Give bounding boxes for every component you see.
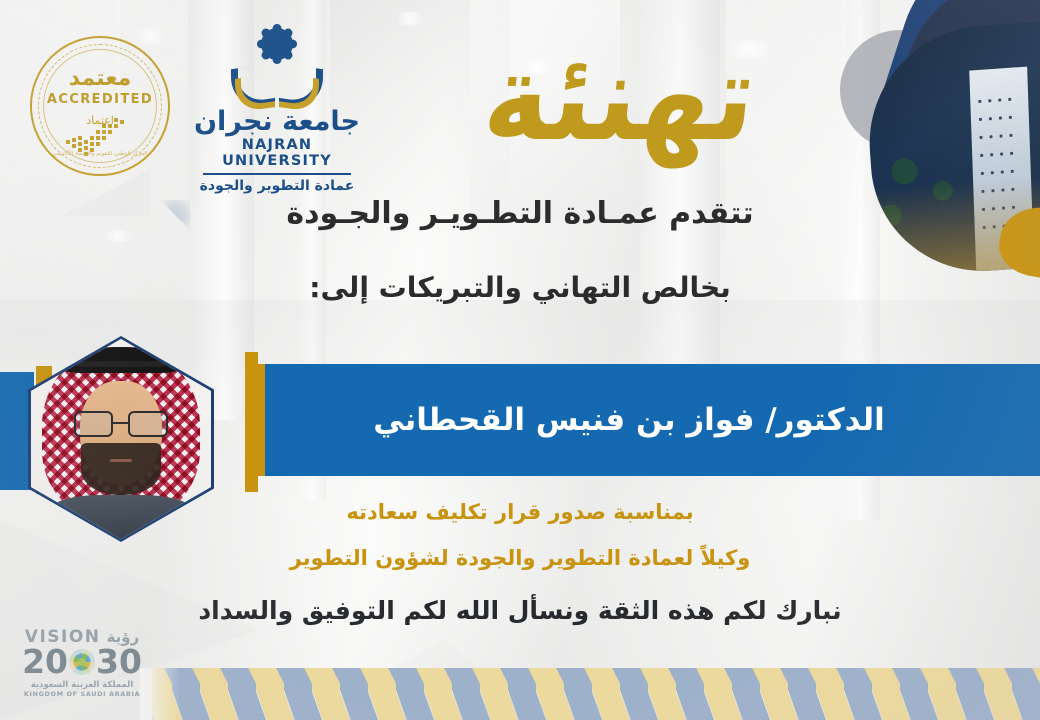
pattern-tile [984, 668, 1012, 720]
vision-year-right: 30 [96, 645, 142, 678]
pattern-tile [200, 668, 228, 720]
vision-2030-logo: VISION رؤية 20 30 المملكة العربية السعود… [20, 627, 144, 698]
open-book-icon [231, 66, 323, 110]
vision-2030-emblem-icon [69, 649, 95, 675]
kingdom-arabic-label: المملكة العربية السعودية [20, 680, 144, 690]
beard [81, 443, 160, 495]
pattern-tile [788, 668, 816, 720]
honoree-name: الدكتور/ فواز بن فنيس القحطاني [373, 402, 925, 438]
pattern-tile [676, 668, 704, 720]
pattern-tile [284, 668, 312, 720]
honoree-name-banner: الدكتور/ فواز بن فنيس القحطاني [258, 364, 1040, 476]
pattern-tile [396, 668, 424, 720]
pattern-tile [844, 668, 872, 720]
pattern-tile [256, 668, 284, 720]
message-line-3: نبارك لكم هذه الثقة ونسأل الله لكم التوف… [0, 596, 1040, 625]
message-text: بمناسبة صدور قرار تكليف سعادته وكيلاً لع… [0, 500, 1040, 625]
pattern-tile [564, 668, 592, 720]
logo-department-name: عمادة التطوير والجودة [192, 178, 362, 194]
page-title: تهنئة [470, 22, 770, 172]
intro-line-2: بخالص التهاني والتبريكات إلى: [0, 271, 1040, 304]
pattern-tile [312, 668, 340, 720]
pattern-tile [452, 668, 480, 720]
pattern-tile [620, 668, 648, 720]
logo-english-name: NAJRAN UNIVERSITY [192, 137, 362, 169]
congratulation-card: معتمد ACCREDITED اعتماد المركز الوطني لل… [0, 0, 1040, 720]
message-line-2: وكيلاً لعمادة التطوير والجودة لشؤون التط… [0, 546, 1040, 570]
logo-arabic-name: جامعة نجران [192, 106, 362, 137]
pattern-tile [368, 668, 396, 720]
pattern-tile [704, 668, 732, 720]
pattern-tile [592, 668, 620, 720]
headline-calligraphy: تهنئة [478, 37, 761, 158]
pattern-tile [340, 668, 368, 720]
pattern-tile [648, 668, 676, 720]
pattern-tile [536, 668, 564, 720]
mouth [110, 459, 132, 462]
seal-english-label: ACCREDITED [30, 92, 170, 107]
seal-arabic-label: معتمد [30, 66, 170, 91]
pattern-tile [872, 668, 900, 720]
bottom-pattern-band [152, 668, 1040, 720]
pattern-tile [928, 668, 956, 720]
najran-university-logo: جامعة نجران NAJRAN UNIVERSITY عمادة التط… [192, 24, 362, 164]
band-corner-fade [140, 668, 180, 720]
kingdom-english-label: KINGDOM OF SAUDI ARABIA [20, 690, 144, 698]
message-line-1: بمناسبة صدور قرار تكليف سعادته [0, 500, 1040, 524]
banner-gold-strip [245, 352, 258, 492]
accreditation-seal-icon: معتمد ACCREDITED اعتماد المركز الوطني لل… [30, 36, 170, 176]
logo-divider [203, 173, 351, 175]
seal-authority-text: المركز الوطني للتقويم والاعتماد الأكاديم… [30, 150, 170, 158]
pattern-tile [508, 668, 536, 720]
pattern-tile [956, 668, 984, 720]
pattern-tile [1012, 668, 1040, 720]
pattern-tile [732, 668, 760, 720]
banner-left-edge [258, 364, 265, 476]
vision-year-left: 20 [22, 645, 68, 678]
intro-text: تتقدم عمـادة التطـويـر والجـودة بخالص ال… [0, 196, 1040, 304]
pattern-tile [424, 668, 452, 720]
intro-line-1: تتقدم عمـادة التطـويـر والجـودة [0, 196, 1040, 231]
pattern-tile [816, 668, 844, 720]
pattern-tile [228, 668, 256, 720]
eyeglasses [74, 411, 168, 437]
star-burst-icon [257, 24, 297, 64]
pattern-tile [480, 668, 508, 720]
pattern-tile [760, 668, 788, 720]
pattern-tile [900, 668, 928, 720]
